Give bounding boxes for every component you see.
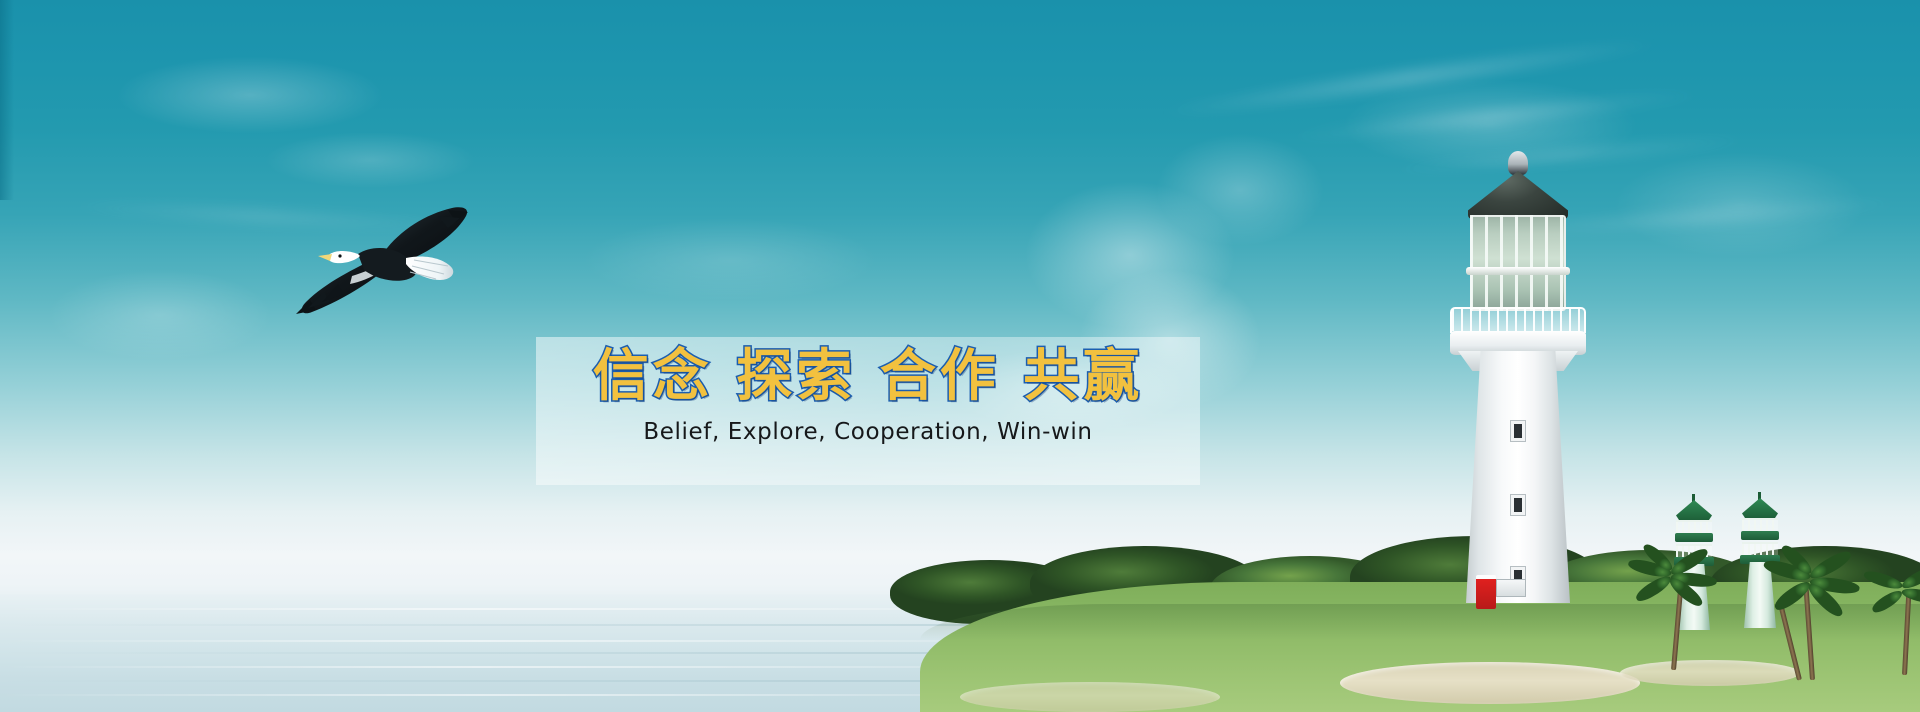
sand-bunker bbox=[1340, 662, 1640, 704]
lighthouse-lantern-mullions bbox=[1470, 215, 1566, 311]
lighthouse-gallery-balusters bbox=[1452, 309, 1584, 331]
lighthouse-door-sign bbox=[1496, 579, 1526, 597]
palm-tree-icon bbox=[1636, 560, 1706, 670]
lighthouse-dome bbox=[1468, 171, 1568, 219]
lighthouse-tower bbox=[1466, 351, 1570, 603]
subtitle-english: Belief, Explore, Cooperation, Win-win bbox=[643, 419, 1092, 445]
palm-tree-icon bbox=[1770, 565, 1850, 680]
lighthouse-lantern-ring bbox=[1466, 267, 1570, 275]
hero-banner: 信念 探索 合作 共赢 Belief, Explore, Cooperation… bbox=[0, 0, 1920, 712]
lighthouse-door bbox=[1476, 575, 1496, 609]
main-lighthouse-icon bbox=[1438, 143, 1598, 603]
headline-panel: 信念 探索 合作 共赢 Belief, Explore, Cooperation… bbox=[536, 337, 1200, 485]
lighthouse-window bbox=[1511, 495, 1525, 515]
headline-chinese: 信念 探索 合作 共赢 bbox=[593, 347, 1144, 407]
sky-left-edge-shade bbox=[0, 0, 14, 200]
sand-bunker bbox=[960, 682, 1220, 712]
lighthouse-window bbox=[1511, 421, 1525, 441]
palm-tree-icon bbox=[1872, 575, 1920, 675]
eagle-icon bbox=[280, 196, 480, 326]
